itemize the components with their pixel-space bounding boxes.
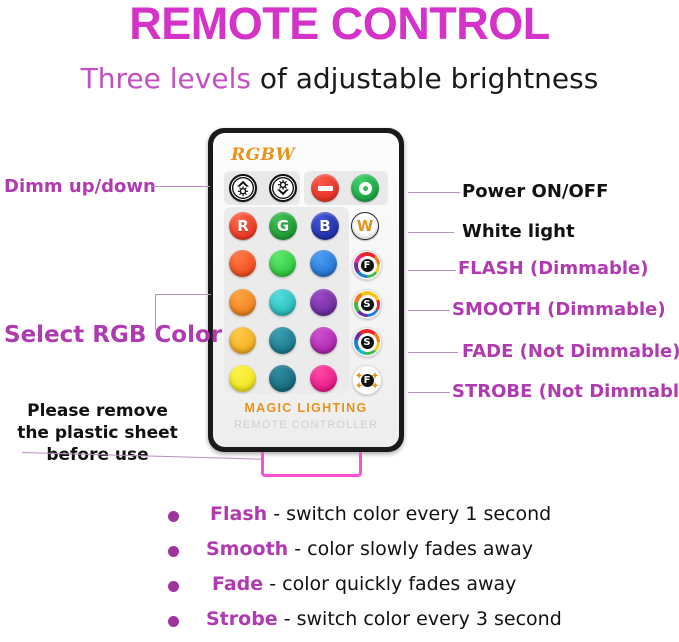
legend-desc: - switch color every 3 second bbox=[278, 608, 562, 630]
legend-text: Strobe - switch color every 3 second bbox=[168, 608, 636, 630]
color-button[interactable] bbox=[310, 289, 337, 316]
legend-desc: - switch color every 1 second bbox=[267, 503, 551, 525]
blue-button[interactable]: B bbox=[311, 212, 339, 240]
green-button-label: G bbox=[277, 219, 289, 234]
dim-up-button[interactable] bbox=[229, 174, 257, 202]
list-item: Fade - color quickly fades away bbox=[168, 572, 598, 607]
callout-dimm: Dimm up/down bbox=[4, 176, 156, 197]
strobe-mode-button[interactable]: F bbox=[352, 365, 382, 395]
legend-desc: - color quickly fades away bbox=[263, 573, 516, 595]
power-off-button[interactable] bbox=[311, 174, 339, 202]
color-button[interactable] bbox=[229, 365, 256, 392]
red-button[interactable]: R bbox=[229, 212, 257, 240]
callout-white-light: White light bbox=[462, 221, 575, 242]
color-button[interactable] bbox=[269, 289, 296, 316]
green-button[interactable]: G bbox=[269, 212, 297, 240]
legend-key: Fade bbox=[212, 573, 263, 595]
callout-fade: FADE (Not Dimmable) bbox=[462, 341, 679, 362]
blue-button-label: B bbox=[319, 219, 330, 234]
plastic-sheet-bracket bbox=[261, 452, 362, 477]
smooth-mode-label: S bbox=[361, 298, 374, 311]
legend-text: Fade - color quickly fades away bbox=[168, 573, 642, 595]
white-button-label: W bbox=[357, 219, 374, 234]
color-button[interactable] bbox=[229, 289, 256, 316]
legend-key: Strobe bbox=[206, 608, 278, 630]
callout-power: Power ON/OFF bbox=[462, 181, 608, 202]
mode-legend-list: Flash - switch color every 1 second Smoo… bbox=[168, 502, 598, 642]
color-button[interactable] bbox=[269, 327, 296, 354]
list-item: Smooth - color slowly fades away bbox=[168, 537, 598, 572]
leader-line-flash bbox=[408, 270, 456, 271]
circle-icon bbox=[359, 182, 372, 195]
strobe-mode-label: F bbox=[361, 374, 374, 387]
list-item: Flash - switch color every 1 second bbox=[168, 502, 598, 537]
color-button[interactable] bbox=[229, 250, 256, 277]
white-button[interactable]: W bbox=[351, 212, 379, 240]
leader-line-smooth bbox=[408, 310, 450, 311]
remote-brand-label: RGBW bbox=[231, 145, 295, 165]
callout-select-rgb: Select RGB Color bbox=[4, 322, 222, 348]
color-button[interactable] bbox=[229, 327, 256, 354]
color-button[interactable] bbox=[310, 365, 337, 392]
legend-text: Flash - switch color every 1 second bbox=[168, 503, 640, 525]
subtitle-highlight: Three levels bbox=[81, 62, 251, 95]
fade-mode-button[interactable]: S bbox=[352, 327, 382, 357]
fade-mode-label: S bbox=[361, 336, 374, 349]
leader-line-select-v bbox=[155, 294, 156, 330]
legend-text: Smooth - color slowly fades away bbox=[168, 538, 636, 560]
subtitle-rest: of adjustable brightness bbox=[251, 62, 598, 95]
page-subtitle: Three levels of adjustable brightness bbox=[0, 62, 679, 95]
sun-down-icon bbox=[271, 175, 295, 201]
flash-mode-label: F bbox=[361, 259, 374, 272]
color-button[interactable] bbox=[310, 250, 337, 277]
legend-desc: - color slowly fades away bbox=[288, 538, 533, 560]
leader-line-strobe bbox=[408, 392, 450, 393]
sun-up-icon bbox=[231, 175, 255, 201]
legend-key: Flash bbox=[210, 503, 267, 525]
leader-line-white bbox=[408, 232, 454, 233]
color-button[interactable] bbox=[310, 327, 337, 354]
dim-down-button[interactable] bbox=[269, 174, 297, 202]
smooth-mode-button[interactable]: S bbox=[352, 289, 382, 319]
callout-strobe: STROBE (Not Dimmable) bbox=[452, 381, 679, 402]
page-title: REMOTE CONTROL bbox=[0, 0, 679, 50]
leader-line-power bbox=[408, 192, 460, 193]
remote-footer-secondary: REMOTE CONTROLLER bbox=[213, 419, 399, 431]
power-on-button[interactable] bbox=[351, 174, 379, 202]
remote-control-device: RGBW bbox=[208, 128, 404, 452]
flash-mode-button[interactable]: F bbox=[352, 250, 382, 280]
legend-key: Smooth bbox=[206, 538, 288, 560]
red-button-label: R bbox=[237, 219, 249, 234]
leader-line-select-h bbox=[155, 294, 211, 295]
color-button[interactable] bbox=[269, 365, 296, 392]
remote-footer-primary: MAGIC LIGHTING bbox=[213, 401, 399, 415]
callout-smooth: SMOOTH (Dimmable) bbox=[452, 299, 666, 320]
leader-line-fade bbox=[408, 352, 458, 353]
color-button[interactable] bbox=[269, 250, 296, 277]
minus-icon bbox=[318, 186, 333, 191]
callout-flash: FLASH (Dimmable) bbox=[458, 258, 648, 279]
list-item: Strobe - switch color every 3 second bbox=[168, 607, 598, 642]
leader-line-dimm bbox=[152, 186, 210, 187]
remote-faceplate: RGBW bbox=[213, 133, 399, 447]
